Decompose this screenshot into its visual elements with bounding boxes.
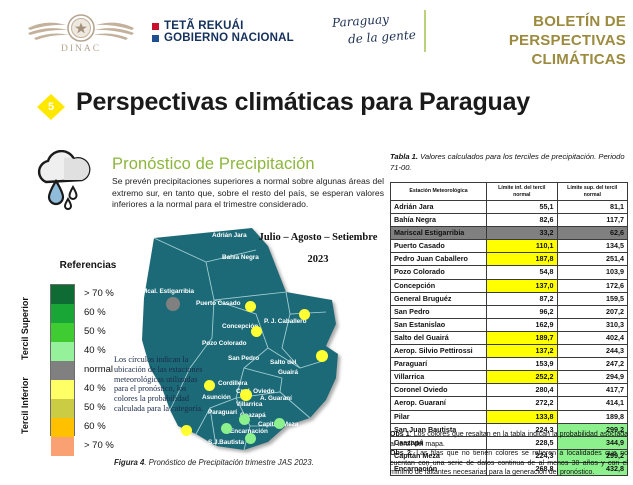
table-cell-lower-limit: 133,8	[487, 410, 558, 423]
dinac-logo: DINAC	[22, 10, 140, 62]
table-row: General Bruguéz87,2159,5	[391, 292, 628, 305]
table-cell-station: Salto del Guairá	[391, 331, 487, 344]
table-cell-upper-limit: 251,4	[557, 253, 628, 266]
table-cell-upper-limit: 172,6	[557, 279, 628, 292]
table-column-header-2: Límite sup. del tercil normal	[557, 183, 628, 201]
table-cell-lower-limit: 33,2	[487, 227, 558, 240]
legend-swatch-2	[51, 323, 74, 342]
section-title-row: 5 Perspectivas climáticas para Paraguay	[36, 88, 596, 128]
map-label-2: Mcal. Estigarribia	[142, 288, 194, 295]
table-cell-upper-limit: 294,9	[557, 371, 628, 384]
forecast-heading: Pronóstico de Precipitación	[112, 155, 315, 174]
table-cell-lower-limit: 187,8	[487, 253, 558, 266]
legend-color-scale	[50, 284, 75, 436]
map-label-13: A. Guaraní	[260, 395, 292, 402]
table-caption: Tabla 1. Valores calculados para los ter…	[390, 152, 630, 173]
table-cell-station: Pozo Colorado	[391, 266, 487, 279]
obs2-text: : Las filas que no tienen colores se ref…	[390, 450, 628, 476]
table-cell-station: Puerto Casado	[391, 240, 487, 253]
table-cell-upper-limit: 207,2	[557, 305, 628, 318]
forecast-body-text: Se prevén precipitaciones superiores a n…	[112, 176, 384, 211]
table-cell-station: Adrián Jara	[391, 201, 487, 214]
table-cell-upper-limit: 244,3	[557, 345, 628, 358]
legend-swatch-label-8: > 70 %	[80, 436, 136, 455]
table-cell-upper-limit: 62,6	[557, 227, 628, 240]
table-cell-upper-limit: 189,8	[557, 410, 628, 423]
map-label-14: Villarrica	[236, 401, 262, 408]
table-cell-upper-limit: 417,7	[557, 384, 628, 397]
table-row: Pedro Juan Caballero187,8251,4	[391, 253, 628, 266]
table-cell-lower-limit: 110,1	[487, 240, 558, 253]
table-cell-upper-limit: 414,1	[557, 397, 628, 410]
legend-swatch-7	[51, 418, 74, 437]
legend-upper-tercile-label: Tercil Superior	[20, 297, 30, 360]
table-row: Concepción137,0172,6	[391, 279, 628, 292]
obs1-bold: Obs 1	[390, 431, 410, 438]
table-header-row: Estación MeteorológicaLímite inf. del te…	[391, 183, 628, 201]
table-row: Salto del Guairá189,7402,4	[391, 331, 628, 344]
map-label-19: Pilar	[184, 440, 198, 447]
table-cell-lower-limit: 280,4	[487, 384, 558, 397]
table-cell-lower-limit: 96,2	[487, 305, 558, 318]
paraguay-brand-logo: Paraguay de la gente	[326, 14, 416, 54]
map-label-7: San Pedro	[228, 355, 259, 362]
map-label-0: Adrián Jara	[212, 232, 247, 239]
legend-swatch-4	[51, 361, 74, 380]
table-cell-lower-limit: 137,0	[487, 279, 558, 292]
table-cell-lower-limit: 153,9	[487, 358, 558, 371]
obs2-bold: Obs 2	[390, 450, 411, 457]
legend-swatch-label-7: 60 %	[80, 417, 136, 436]
table-row: Villarrica252,2294,9	[391, 371, 628, 384]
map-station-dot[interactable]	[240, 389, 252, 401]
table-cell-upper-limit: 402,4	[557, 331, 628, 344]
table-cell-lower-limit: 55,1	[487, 201, 558, 214]
legend-swatch-label-2: 50 %	[80, 322, 136, 341]
figure-caption-rest: . Pronóstico de Precipitación trimestre …	[144, 458, 313, 467]
map-station-dot[interactable]	[181, 425, 192, 436]
table-cell-lower-limit: 252,2	[487, 371, 558, 384]
table-cell-upper-limit: 159,5	[557, 292, 628, 305]
table-row: Paraguarí153,9247,2	[391, 358, 628, 371]
table-row: Pilar133,8189,8	[391, 410, 628, 423]
government-logo: TETÃ REKUÁI GOBIERNO NACIONAL	[152, 20, 294, 44]
brand-line-1: Paraguay	[332, 12, 390, 30]
map-label-8: Salto del	[270, 359, 296, 366]
table-cell-station: General Bruguéz	[391, 292, 487, 305]
rain-cloud-icon	[28, 150, 100, 212]
gov-line-1: TETÃ REKUÁI	[152, 20, 294, 32]
table-cell-station: Aerop. Silvio Pettirossi	[391, 345, 487, 358]
table-column-header-1: Límite inf. del tercil normal	[487, 183, 558, 201]
legend-lower-tercile-label: Tercil Inferior	[20, 377, 30, 434]
map-year-label: 2023	[258, 254, 378, 265]
table-cell-station: Coronel Oviedo	[391, 384, 487, 397]
gov-line-1-label: TETÃ REKUÁI	[164, 20, 244, 32]
table-cell-lower-limit: 137,2	[487, 345, 558, 358]
red-square-icon	[152, 23, 159, 30]
table-column-header-0: Estación Meteorológica	[391, 183, 487, 201]
map-station-dot[interactable]	[245, 433, 256, 444]
table-caption-rest: Valores calculados para los terciles de …	[390, 152, 625, 172]
table-row: Aerop. Guaraní272,2414,1	[391, 397, 628, 410]
table-cell-lower-limit: 82,6	[487, 214, 558, 227]
legend-swatch-0	[51, 285, 74, 304]
brand-line-2: de la gente	[348, 28, 417, 47]
legend-swatch-3	[51, 342, 74, 361]
table-row: San Estanislao162,9310,3	[391, 318, 628, 331]
table-row: Adrián Jara55,181,1	[391, 201, 628, 214]
table-cell-upper-limit: 117,7	[557, 214, 628, 227]
map-label-4: P. J. Caballero	[264, 318, 306, 325]
table-cell-station: Pedro Juan Caballero	[391, 253, 487, 266]
legend-swatch-8	[51, 437, 74, 456]
map-station-dot[interactable]	[221, 423, 232, 434]
table-row: Puerto Casado110,1134,5	[391, 240, 628, 253]
section-badge-number: 5	[36, 92, 66, 122]
blue-square-icon	[152, 35, 159, 42]
map-label-10: Cordillera	[218, 380, 247, 387]
table-caption-bold: Tabla 1.	[390, 152, 418, 161]
map-label-6: Pozo Colorado	[202, 340, 246, 347]
legend-swatch-label-0: > 70 %	[80, 284, 136, 303]
map-label-3: Puerto Casado	[196, 300, 240, 307]
table-cell-upper-limit: 310,3	[557, 318, 628, 331]
table-row: Pozo Colorado54,8103,9	[391, 266, 628, 279]
figure-caption-bold: Figura 4	[114, 458, 144, 467]
legend-swatch-1	[51, 304, 74, 323]
map-station-dot[interactable]	[245, 301, 256, 312]
map-label-15: Paraguarí	[208, 409, 237, 416]
map-station-dot[interactable]	[166, 297, 180, 311]
header-bottom-spacer	[0, 66, 633, 80]
map-period-label: Julio – Agosto – Setiembre	[258, 232, 378, 243]
dinac-label: DINAC	[22, 44, 140, 54]
table-cell-station: Villarrica	[391, 371, 487, 384]
header-vertical-divider	[424, 10, 426, 52]
table-observations: Obs 1: Los colores que resaltan en la ta…	[390, 430, 628, 478]
table-cell-lower-limit: 162,9	[487, 318, 558, 331]
gov-line-2-label: GOBIERNO NACIONAL	[164, 32, 294, 44]
table-cell-upper-limit: 81,1	[557, 201, 628, 214]
table-cell-station: Pilar	[391, 410, 487, 423]
map-station-dot[interactable]	[316, 350, 328, 362]
gov-line-2: GOBIERNO NACIONAL	[152, 32, 294, 44]
table-cell-upper-limit: 247,2	[557, 358, 628, 371]
table-cell-upper-limit: 103,9	[557, 266, 628, 279]
table-cell-station: Mariscal Estigarribia	[391, 227, 487, 240]
page-title: Perspectivas climáticas para Paraguay	[76, 88, 530, 117]
table-cell-station: Concepción	[391, 279, 487, 292]
table-cell-upper-limit: 134,5	[557, 240, 628, 253]
table-row: Mariscal Estigarribia33,262,6	[391, 227, 628, 240]
bulletin-title: BOLETÍN DE PERSPECTIVAS CLIMÁTICAS	[430, 12, 626, 69]
legend-title: Referencias	[40, 260, 136, 271]
map-station-dot[interactable]	[251, 326, 262, 337]
table-cell-lower-limit: 189,7	[487, 331, 558, 344]
map-label-1: Bahía Negra	[222, 254, 259, 261]
table-row: Bahía Negra82,6117,7	[391, 214, 628, 227]
table-cell-station: Bahía Negra	[391, 214, 487, 227]
table-cell-station: San Pedro	[391, 305, 487, 318]
map-station-dot[interactable]	[239, 414, 250, 425]
table-cell-station: Aerop. Guaraní	[391, 397, 487, 410]
legend-swatch-6	[51, 399, 74, 418]
table-cell-station: San Estanislao	[391, 318, 487, 331]
map-label-9: Guairá	[278, 369, 298, 376]
map-circles-note: Los círculos indican la ubicación de las…	[114, 355, 208, 414]
map-station-dot[interactable]	[299, 309, 310, 320]
table-row: San Pedro96,2207,2	[391, 305, 628, 318]
map-label-20: S.J.Bautista	[208, 439, 244, 446]
table-cell-station: Paraguarí	[391, 358, 487, 371]
table-row: Aerop. Silvio Pettirossi137,2244,3	[391, 345, 628, 358]
figure-caption: Figura 4. Pronóstico de Precipitación tr…	[114, 458, 404, 467]
map-station-dot[interactable]	[274, 418, 285, 429]
legend-swatch-5	[51, 380, 74, 399]
page-header: DINAC TETÃ REKUÁI GOBIERNO NACIONAL Para…	[0, 0, 633, 66]
table-cell-lower-limit: 272,2	[487, 397, 558, 410]
dinac-wings-icon	[22, 12, 140, 46]
table-row: Coronel Oviedo280,4417,7	[391, 384, 628, 397]
table-head: Estación MeteorológicaLímite inf. del te…	[391, 183, 628, 201]
table-cell-lower-limit: 87,2	[487, 292, 558, 305]
obs1-text: : Los colores que resaltan en la tabla i…	[390, 431, 628, 448]
legend-swatch-label-1: 60 %	[80, 303, 136, 322]
table-cell-lower-limit: 54,8	[487, 266, 558, 279]
